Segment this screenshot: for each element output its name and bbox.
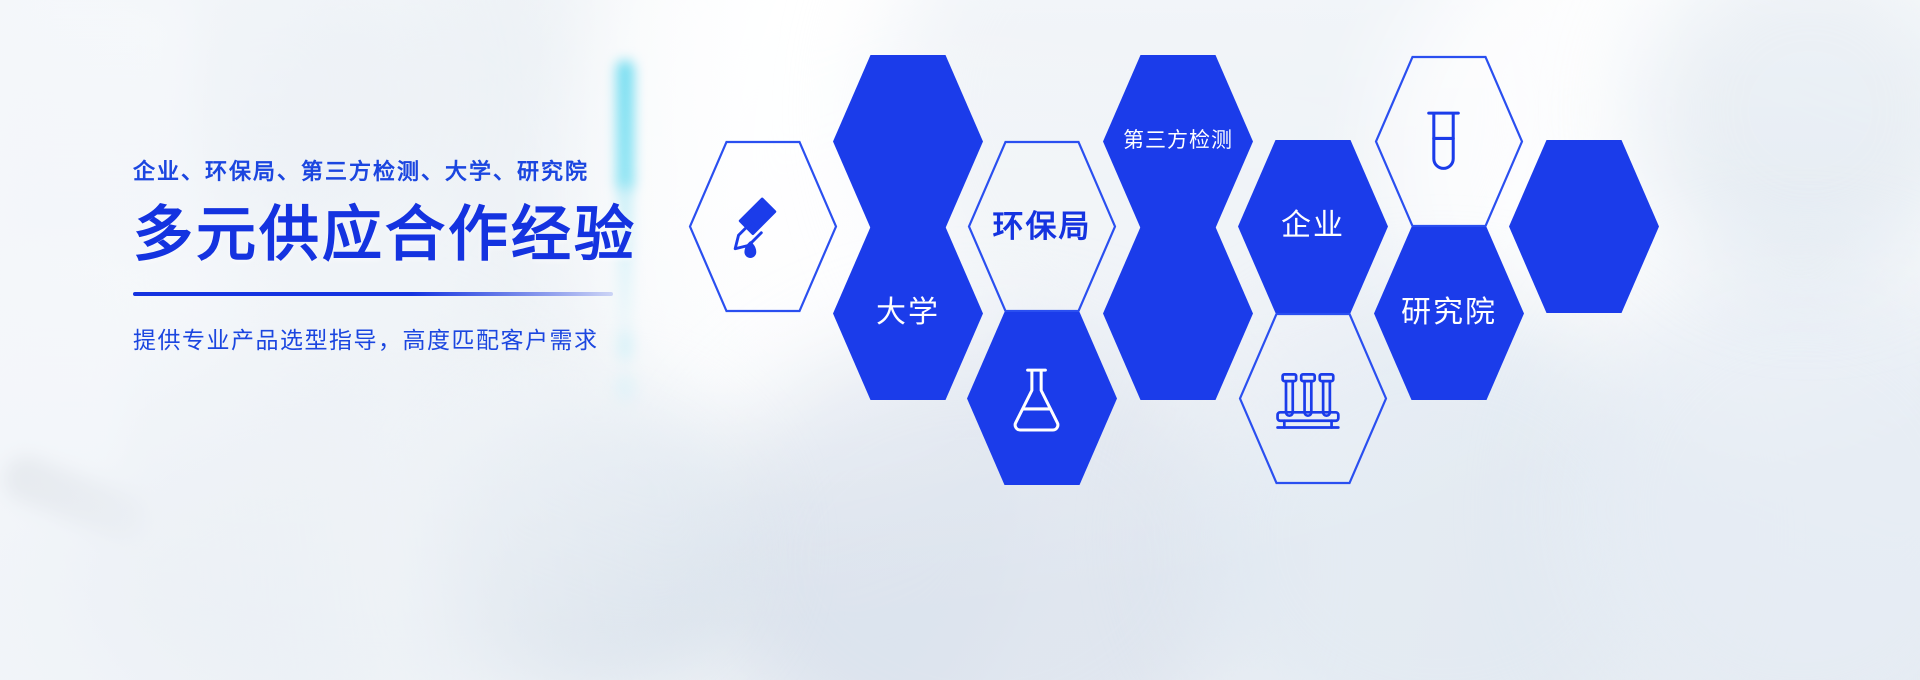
hex-epb[interactable]: 环保局 [967,140,1117,313]
hex-thirdparty[interactable]: 第三方检测 [1103,55,1253,228]
hex-tuberack[interactable] [1238,312,1388,485]
marketing-banner: 企业、环保局、第三方检测、大学、研究院 多元供应合作经验 提供专业产品选型指导，… [0,0,1920,680]
hex-blank-3[interactable] [1509,140,1659,313]
hex-institute[interactable]: 研究院 [1374,227,1524,400]
hex-blank-1[interactable] [833,55,983,228]
hex-dropper[interactable] [688,140,838,313]
hex-university[interactable]: 大学 [833,227,983,400]
hex-flask[interactable] [967,312,1117,485]
hex-blank-2[interactable] [1103,227,1253,400]
hexagon-cluster: 大学环保局 第三方检测企业 研究院 [0,0,1920,680]
hex-enterprise[interactable]: 企业 [1238,140,1388,313]
hex-testtube[interactable] [1374,55,1524,228]
